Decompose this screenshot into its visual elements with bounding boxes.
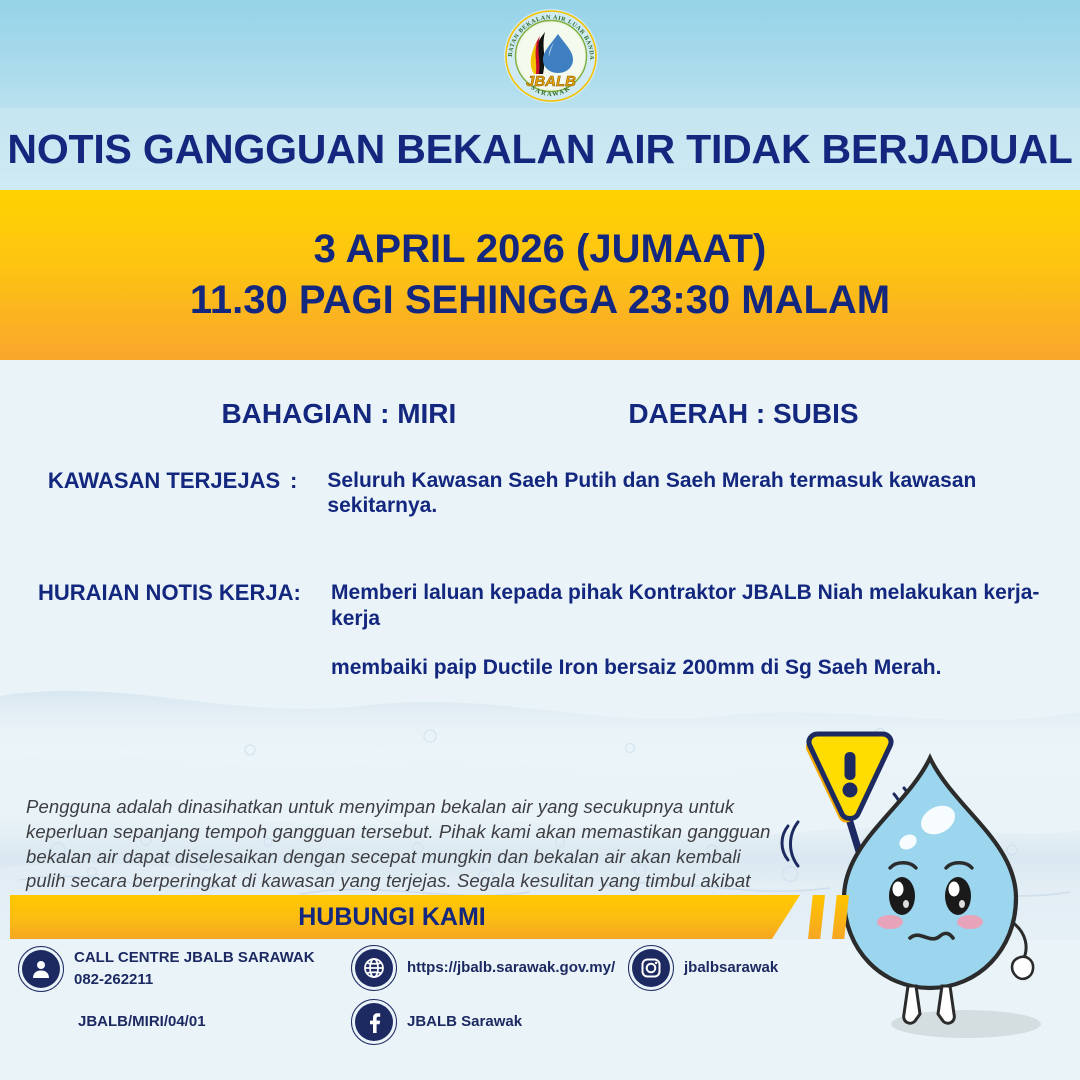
work-description-key: HURAIAN NOTIS KERJA bbox=[38, 580, 293, 680]
title-band: NOTIS GANGGUAN BEKALAN AIR TIDAK BERJADU… bbox=[0, 108, 1080, 190]
work-description-colon: : bbox=[293, 580, 331, 680]
reference-number: JBALB/MIRI/04/01 bbox=[78, 1013, 206, 1030]
contact-instagram[interactable]: jbalbsarawak bbox=[632, 949, 778, 987]
call-centre-label: CALL CENTRE JBALB SARAWAK bbox=[74, 947, 315, 969]
contact-call-centre-text: CALL CENTRE JBALB SARAWAK 082-262211 bbox=[74, 947, 315, 991]
facebook-label: JBALB Sarawak bbox=[407, 1011, 522, 1033]
contact-website[interactable]: https://jbalb.sarawak.gov.my/ bbox=[355, 949, 615, 987]
work-description-line-2: membaiki paip Ductile Iron bersaiz 200mm… bbox=[331, 655, 1080, 680]
globe-icon bbox=[355, 949, 393, 987]
page-title: NOTIS GANGGUAN BEKALAN AIR TIDAK BERJADU… bbox=[7, 126, 1072, 173]
notice-time-range: 11.30 PAGI SEHINGGA 23:30 MALAM bbox=[190, 278, 890, 323]
details-section: BAHAGIAN : MIRI DAERAH : SUBIS KAWASAN T… bbox=[0, 360, 1080, 690]
contact-facebook[interactable]: JBALB Sarawak bbox=[355, 1003, 522, 1041]
work-description-value: Memberi laluan kepada pihak Kontraktor J… bbox=[331, 580, 1080, 680]
svg-text:JBALB: JBALB bbox=[526, 73, 576, 90]
division-district-row: BAHAGIAN : MIRI DAERAH : SUBIS bbox=[0, 398, 1080, 430]
notice-date: 3 APRIL 2026 (JUMAAT) bbox=[314, 227, 767, 272]
notice-poster: JABATAN BEKALAN AIR LUAR BANDAR SARAWAK … bbox=[0, 0, 1080, 1080]
jbalb-sarawak-logo: JABATAN BEKALAN AIR LUAR BANDAR SARAWAK … bbox=[503, 8, 599, 104]
work-description-row: HURAIAN NOTIS KERJA : Memberi laluan kep… bbox=[0, 580, 1080, 680]
affected-area-key: KAWASAN TERJEJAS bbox=[38, 468, 290, 518]
contact-us-heading: HUBUNGI KAMI bbox=[298, 903, 486, 932]
call-centre-phone: 082-262211 bbox=[74, 969, 315, 991]
website-label: https://jbalb.sarawak.gov.my/ bbox=[407, 957, 615, 979]
contacts-section: CALL CENTRE JBALB SARAWAK 082-262211 JBA… bbox=[0, 945, 1080, 1080]
affected-area-colon: : bbox=[290, 468, 327, 518]
daerah-label: DAERAH : SUBIS bbox=[628, 398, 858, 430]
bahagian-label: BAHAGIAN : MIRI bbox=[221, 398, 456, 430]
instagram-label: jbalbsarawak bbox=[684, 957, 778, 979]
facebook-icon bbox=[355, 1003, 393, 1041]
contact-call-centre[interactable]: CALL CENTRE JBALB SARAWAK 082-262211 bbox=[22, 947, 315, 991]
date-time-banner: 3 APRIL 2026 (JUMAAT) 11.30 PAGI SEHINGG… bbox=[0, 190, 1080, 360]
affected-area-value: Seluruh Kawasan Saeh Putih dan Saeh Mera… bbox=[327, 468, 1080, 518]
instagram-icon bbox=[632, 949, 670, 987]
work-description-line-1: Memberi laluan kepada pihak Kontraktor J… bbox=[331, 581, 1039, 629]
affected-area-row: KAWASAN TERJEJAS : Seluruh Kawasan Saeh … bbox=[0, 468, 1080, 518]
person-icon bbox=[22, 950, 60, 988]
contact-us-bar: HUBUNGI KAMI bbox=[10, 895, 800, 939]
